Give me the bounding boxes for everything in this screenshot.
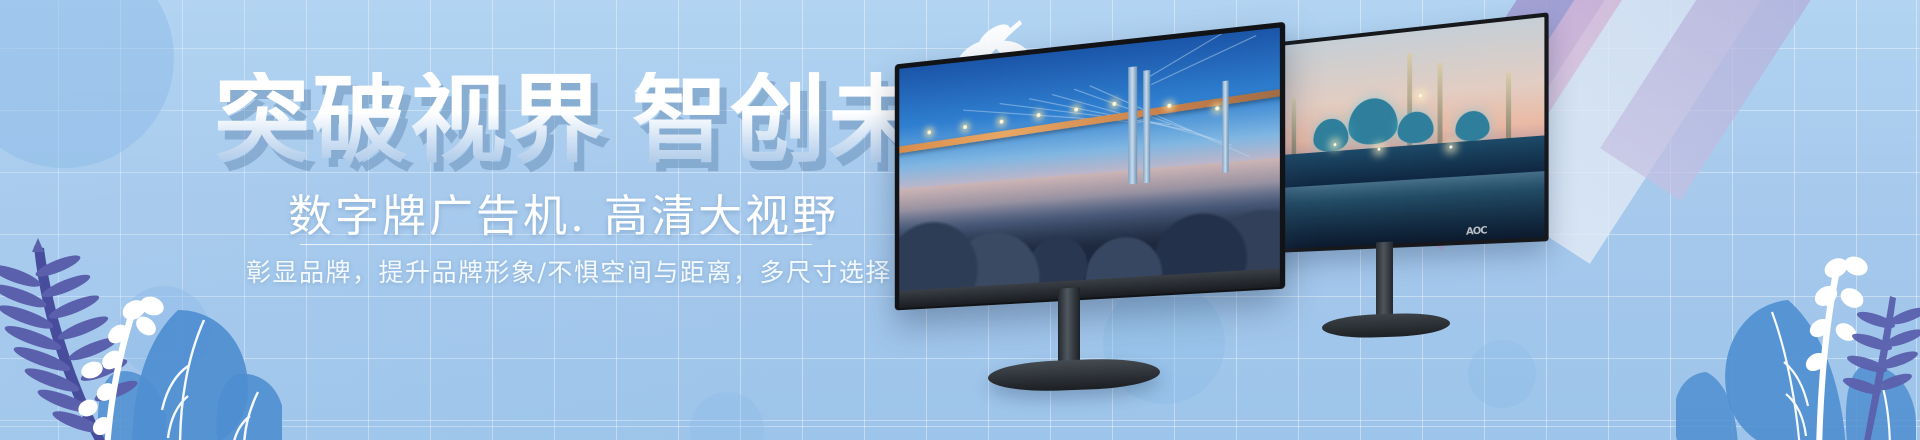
monitor-front: AOC <box>882 44 1302 384</box>
divider-rule <box>300 244 812 245</box>
headline-part-1: 突破视界 <box>214 63 606 176</box>
copy-block: 突破视界智创未来 数字牌广告机. 高清大视野 彰显品牌，提升品牌形象/不惧空间与… <box>0 0 900 440</box>
monitor-front-bezel <box>895 22 1285 311</box>
monitor-back-brand-logo: AOC <box>1466 225 1487 237</box>
monitor-front-stand-neck <box>1058 287 1080 366</box>
monitor-front-stand-base <box>988 357 1160 393</box>
promo-banner: 突破视界智创未来 数字牌广告机. 高清大视野 彰显品牌，提升品牌形象/不惧空间与… <box>0 0 1920 440</box>
monitor-back-stand-neck <box>1376 242 1393 321</box>
product-showcase: AOC <box>860 0 1920 440</box>
tagline: 彰显品牌，提升品牌形象/不惧空间与距离，多尺寸选择 <box>246 258 892 288</box>
subtitle: 数字牌广告机. 高清大视野 <box>288 192 839 243</box>
monitor-front-screen <box>899 28 1280 292</box>
monitor-back-stand-base <box>1322 312 1450 339</box>
